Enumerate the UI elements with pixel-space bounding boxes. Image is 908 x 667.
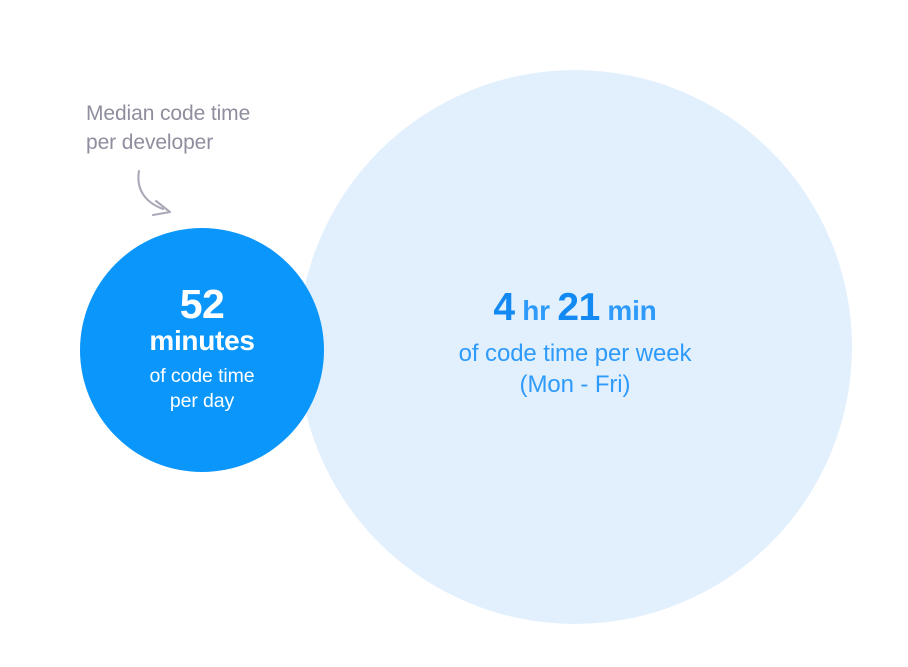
week-subtitle-line-1: of code time per week (459, 339, 692, 370)
day-subtitle: of code time per day (149, 364, 254, 415)
curved-arrow-icon (120, 160, 200, 230)
day-subtitle-line-1: of code time (149, 364, 254, 389)
day-bubble: 52 minutes of code time per day (80, 228, 324, 472)
week-minutes-unit: min (607, 295, 656, 326)
day-unit: minutes (149, 326, 254, 357)
infographic-canvas: 4 hr 21 min of code time per week (Mon -… (0, 0, 908, 667)
week-minutes-value: 21 (557, 286, 599, 329)
week-bubble: 4 hr 21 min of code time per week (Mon -… (298, 70, 852, 624)
week-subtitle: of code time per week (Mon - Fri) (459, 339, 692, 400)
week-hours-value: 4 (493, 286, 514, 329)
week-headline: 4 hr 21 min (493, 288, 656, 327)
week-hours-unit: hr (522, 295, 550, 326)
week-subtitle-line-2: (Mon - Fri) (459, 370, 692, 401)
day-bubble-text: 52 minutes of code time per day (80, 228, 324, 472)
day-subtitle-line-2: per day (149, 389, 254, 414)
annotation-label: Median code time per developer (86, 100, 250, 157)
week-bubble-text: 4 hr 21 min of code time per week (Mon -… (298, 70, 852, 624)
day-number: 52 (180, 283, 225, 326)
